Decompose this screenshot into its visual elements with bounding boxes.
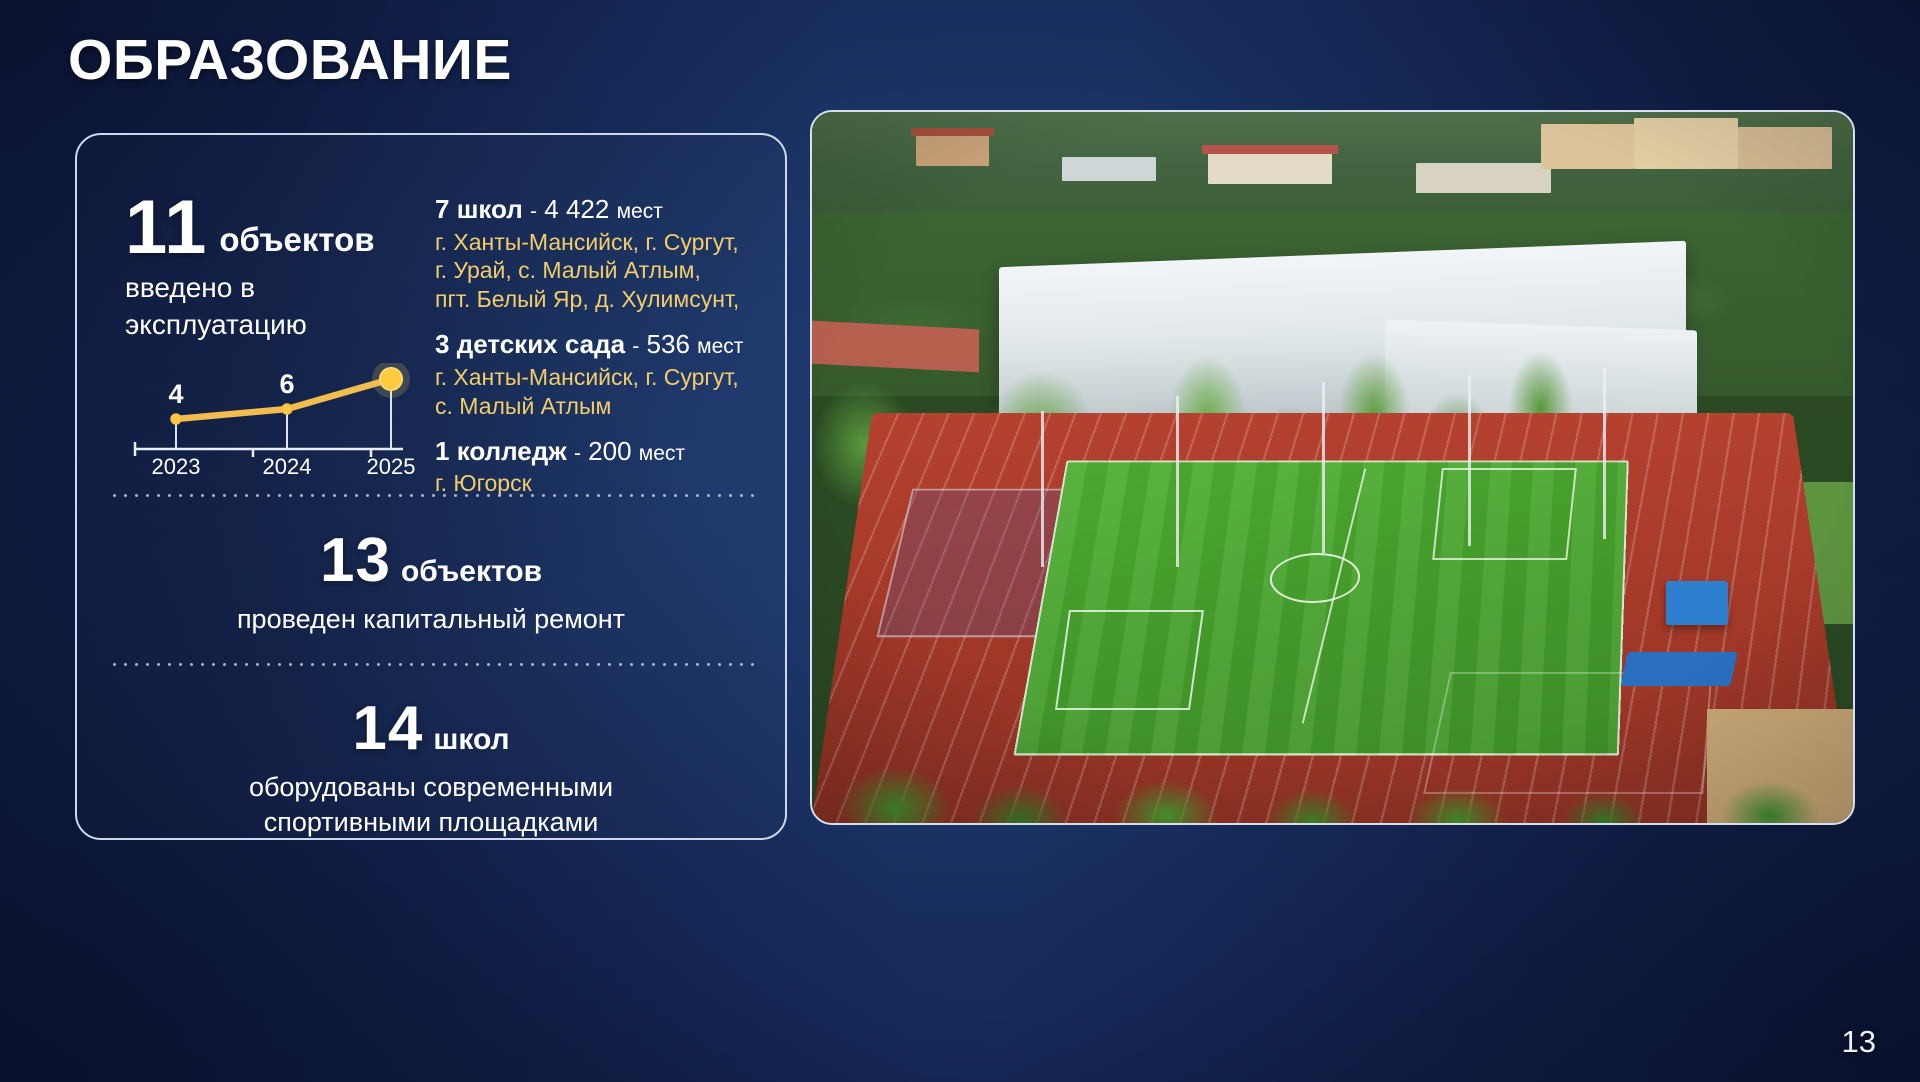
detail-college-value-unit: мест — [639, 442, 685, 465]
chart-category-2024: 2024 — [263, 454, 312, 475]
chart-category-2025: 2025 — [367, 454, 416, 475]
commissioned-description: введено в эксплуатацию — [125, 270, 375, 344]
sports-grounds-description-line1: оборудованы современными — [77, 770, 785, 805]
detail-schools-place-line-3: пгт. Белый Яр, д. Хулимсунт, — [435, 285, 775, 314]
detail-kindergartens-dash: - — [632, 335, 639, 358]
detail-college-headline: 1 колледж - 200 мест — [435, 435, 775, 468]
commissioned-unit: объектов — [219, 221, 374, 258]
divider-top — [109, 494, 757, 497]
detail-kindergartens-value: 536 — [647, 329, 690, 359]
detail-kindergartens-places: г. Ханты-Мансийск, г. Сургут, с. Малый А… — [435, 363, 775, 421]
detail-kindergartens-value-unit: мест — [697, 335, 743, 358]
detail-schools-place-line-2: г. Урай, с. Малый Атлым, — [435, 256, 775, 285]
detail-kindergartens-noun: детских сада — [457, 329, 625, 359]
commissioned-headline: 11объектов — [125, 190, 375, 266]
chart-point-2024 — [282, 404, 292, 414]
detail-college-count: 1 — [435, 436, 449, 466]
commissioned-description-line2: эксплуатацию — [125, 307, 375, 344]
capital-repair-description: проведен капитальный ремонт — [77, 602, 785, 637]
sports-grounds-description: оборудованы современными спортивными пло… — [77, 770, 785, 839]
sports-grounds-number: 14 — [352, 694, 423, 763]
detail-group-schools: 7 школ - 4 422 мест г. Ханты-Мансийск, г… — [435, 193, 775, 314]
detail-schools-dash: - — [530, 200, 537, 223]
capital-repair-unit: объектов — [401, 555, 542, 588]
aerial-photo — [810, 110, 1855, 825]
page-number: 13 — [1842, 1024, 1876, 1060]
detail-schools-places: г. Ханты-Мансийск, г. Сургут, г. Урай, с… — [435, 228, 775, 315]
detail-schools-headline: 7 школ - 4 422 мест — [435, 193, 775, 226]
detail-schools-value-unit: мест — [617, 200, 663, 223]
chart-point-2023 — [171, 414, 181, 424]
photo-vignette — [812, 112, 1853, 823]
detail-kindergartens-count: 3 — [435, 329, 449, 359]
commissioned-number: 11 — [125, 185, 207, 270]
capital-repair-headline: 13объектов — [77, 525, 785, 596]
detail-schools-count: 7 — [435, 194, 449, 224]
detail-schools-noun: школ — [457, 194, 523, 224]
detail-college-value: 200 — [588, 436, 631, 466]
divider-bottom — [109, 663, 757, 666]
detail-kindergartens-place-line-2: с. Малый Атлым — [435, 392, 775, 421]
chart-point-2025 — [380, 368, 402, 390]
photo-scene — [812, 112, 1853, 823]
stats-card: 11объектов введено в эксплуатацию — [75, 133, 787, 840]
detail-group-college: 1 колледж - 200 мест г. Югорск — [435, 435, 775, 498]
detail-group-kindergartens: 3 детских сада - 536 мест г. Ханты-Манси… — [435, 328, 775, 420]
chart-value-label-2023: 4 — [168, 379, 183, 409]
detail-schools-value: 4 422 — [544, 194, 609, 224]
chart-category-2023: 2023 — [152, 454, 201, 475]
detail-college-dash: - — [574, 442, 581, 465]
capital-repair-number: 13 — [320, 526, 391, 595]
capital-repair-block: 13объектов проведен капитальный ремонт — [77, 525, 785, 637]
sports-grounds-description-line2: спортивными площадками — [77, 805, 785, 840]
detail-schools-place-line-1: г. Ханты-Мансийск, г. Сургут, — [435, 228, 775, 257]
chart-value-label-2025: 11 — [377, 363, 406, 367]
detail-kindergartens-headline: 3 детских сада - 536 мест — [435, 328, 775, 361]
chart-value-label-2024: 6 — [279, 369, 294, 399]
sports-grounds-unit: школ — [433, 723, 509, 756]
commissioned-line-chart: 4 6 11 2023 2024 2025 — [119, 363, 419, 473]
commissioned-description-line1: введено в — [125, 270, 375, 307]
details-list: 7 школ - 4 422 мест г. Ханты-Мансийск, г… — [435, 193, 775, 512]
detail-college-noun: колледж — [457, 436, 567, 466]
chart-svg: 4 6 11 2023 2024 2025 — [119, 363, 419, 475]
commissioned-block: 11объектов введено в эксплуатацию — [77, 135, 785, 493]
sports-grounds-headline: 14школ — [77, 693, 785, 764]
detail-kindergartens-place-line-1: г. Ханты-Мансийск, г. Сургут, — [435, 363, 775, 392]
page-title: ОБРАЗОВАНИЕ — [68, 27, 512, 93]
sports-grounds-block: 14школ оборудованы современными спортивн… — [77, 693, 785, 839]
